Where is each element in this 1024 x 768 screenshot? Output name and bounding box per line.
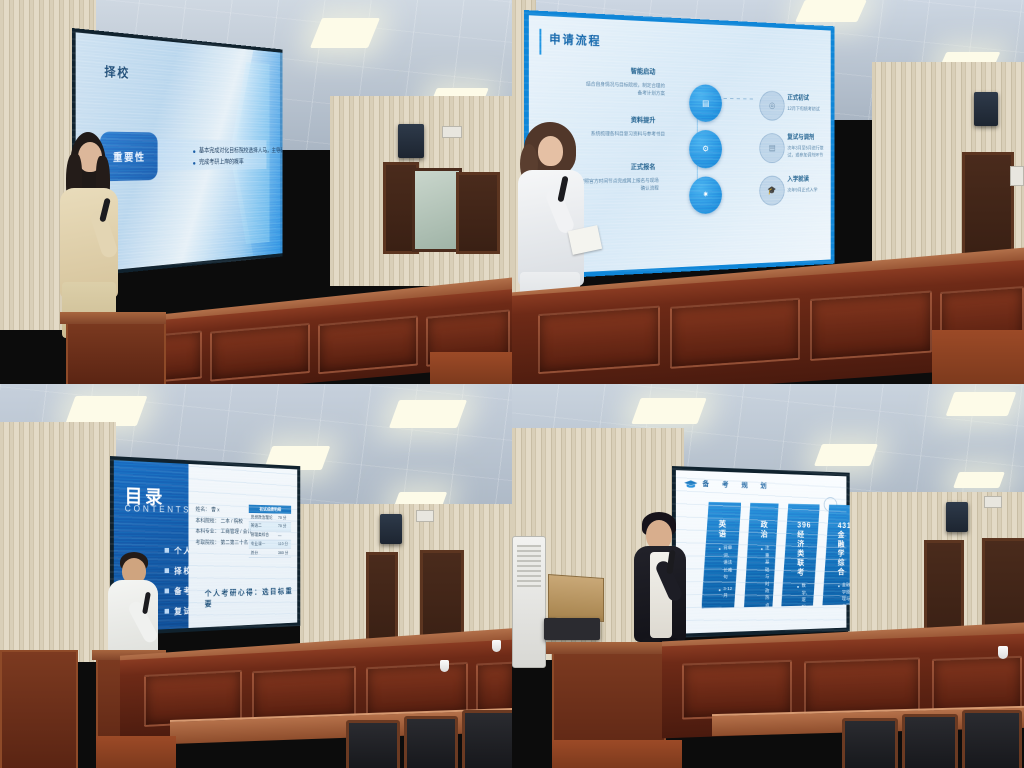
- chevron-point: 3-12月: [719, 586, 733, 601]
- slide-header: 备 考 规 划: [683, 479, 772, 491]
- photo-bottom-left: 目录 CONTENTS 个人介绍 择校择专业 备考规划 复试经验 姓名： 曹 x…: [0, 384, 512, 768]
- table-row: 管理类综合—: [249, 531, 291, 540]
- step-desc: 次年9月正式入学: [787, 187, 830, 195]
- ceiling-light: [814, 444, 878, 466]
- chair: [962, 710, 1022, 768]
- door: [366, 552, 398, 644]
- chair: [842, 718, 898, 768]
- bullet: 完成考研上岸的概率: [193, 157, 282, 168]
- chair: [902, 714, 958, 768]
- step-node-6: 🎓: [759, 175, 784, 205]
- wall-speaker: [398, 124, 424, 158]
- equipment-case: [548, 574, 604, 622]
- slide-footer: 个人考研心得：选目标重要: [205, 586, 298, 609]
- floor: [430, 352, 512, 384]
- photo-collage: 择校 重要性 基本完成对化目标院校选择人马，主导研究 完成考研上岸的概率: [0, 0, 1024, 768]
- air-conditioner: [512, 536, 546, 668]
- step-desc: 次年3月至5月进行复试，或参加调剂环节: [787, 146, 830, 160]
- step-label: 入学就读: [787, 174, 809, 183]
- ceiling-light: [946, 392, 1017, 416]
- score-table: 初试成绩明细 思想政治理论70 分 英语二70 分 管理类综合— 专业课一110…: [249, 505, 291, 558]
- step-label: 智能启动: [631, 66, 656, 76]
- step-desc: 12月下旬统考初试: [787, 106, 830, 114]
- chevron-point: 注重基础与时政热点: [761, 546, 770, 610]
- podium-top: [546, 642, 670, 654]
- chevron-title: 政治: [761, 521, 770, 540]
- podium-top: [60, 312, 166, 324]
- info-line: 姓名： 曹 x: [195, 505, 251, 517]
- chevron-2: 政治 注重基础与时政热点 8-12月: [744, 503, 779, 608]
- graduation-cap-icon: [683, 479, 697, 488]
- ceiling-light: [310, 18, 380, 48]
- paper-cup: [492, 640, 501, 652]
- chevron-point: 数学、逻辑、写作: [797, 583, 811, 618]
- paper-cup: [440, 660, 449, 672]
- floor: [96, 736, 176, 768]
- step-desc: 结合自身情况与目标院校，制定合理的备考计划方案: [582, 81, 664, 98]
- chair: [346, 720, 400, 768]
- chevron-4: 431金融学综合 金融学原理与公司财务 6-12月: [822, 505, 849, 606]
- door-glass: [412, 168, 462, 252]
- presenter-1: [46, 132, 136, 332]
- photo-top-right: 申请流程 ▤ 智能启动 结合自身情况与目标院校，制定合理的备考计划方案 ⚙ 资料…: [512, 0, 1024, 384]
- photo-bottom-right: 备 考 规 划 英语 背单词、语法长难句 3-12月 政治 注重基础与: [512, 384, 1024, 768]
- wall-speaker: [380, 514, 402, 544]
- wall-left: [0, 422, 116, 662]
- door: [962, 152, 1014, 256]
- step-label: 正式报名: [631, 162, 656, 172]
- chevron-1: 英语 背单词、语法长难句 3-12月: [701, 502, 741, 609]
- door-2: [456, 172, 500, 254]
- chevron-title: 英语: [719, 520, 733, 540]
- step-node-2: ⚙: [689, 130, 722, 168]
- slide-right-panel: 姓名： 曹 x 本科院校： 二本 / 院校 本科专业： 工商管理 / 会计 考取…: [189, 464, 298, 628]
- podium-2: [0, 650, 78, 768]
- wall-speaker: [946, 502, 968, 532]
- wall-speaker: [974, 92, 998, 126]
- header-label: 备 考 规 划: [702, 479, 772, 491]
- slide-bullets: 基本完成对化目标院校选择人马，主导研究 完成考研上岸的概率: [162, 146, 282, 169]
- equipment-box: [544, 618, 600, 640]
- chevron-3: 396经济类联考 数学、逻辑、写作 3-12月: [781, 504, 820, 607]
- step-label: 正式初试: [787, 93, 809, 102]
- wall-plate: [984, 496, 1002, 508]
- step-node-5: ▤: [759, 133, 784, 163]
- photo-top-left: 择校 重要性 基本完成对化目标院校选择人马，主导研究 完成考研上岸的概率: [0, 0, 512, 384]
- wall-plate: [1010, 166, 1024, 186]
- step-label: 资料提升: [631, 115, 656, 125]
- podium: [66, 318, 166, 384]
- chevron-title: 396经济类联考: [797, 521, 811, 578]
- step-node-3: ✷: [689, 176, 722, 214]
- floor: [552, 740, 682, 768]
- ceiling-light: [795, 0, 867, 22]
- step-label: 复试与调剂: [787, 132, 814, 141]
- slide-title: 择校: [104, 61, 130, 81]
- chevron-title: 431金融学综合: [838, 522, 850, 578]
- table-row: 专业课一110 分: [249, 540, 291, 549]
- ceiling-light: [953, 472, 1005, 488]
- info-line: 考取院校： 第二第三十名: [195, 539, 251, 550]
- chair: [404, 716, 458, 768]
- info-line: 本科院校： 二本 / 院校: [195, 516, 251, 528]
- slide-title: 申请流程: [549, 30, 601, 49]
- personal-info: 姓名： 曹 x 本科院校： 二本 / 院校 本科专业： 工商管理 / 会计 考取…: [195, 505, 251, 550]
- wall-plate: [416, 510, 434, 522]
- bullet: 基本完成对化目标院校选择人马，主导研究: [193, 146, 282, 157]
- chevron-group: 英语 背单词、语法长难句 3-12月 政治 注重基础与时政热点 8-12月: [701, 502, 827, 609]
- ceiling-light: [389, 400, 467, 428]
- table-row: 英语二70 分: [249, 522, 291, 531]
- step-node-1: ▤: [689, 84, 722, 122]
- table-row: 总分380 分: [249, 549, 291, 558]
- chair: [462, 710, 512, 768]
- floor: [932, 330, 1024, 384]
- info-line: 本科专业： 工商管理 / 会计: [195, 527, 251, 538]
- chevron-point: 背单词、语法长难句: [719, 546, 733, 582]
- wall-plate: [442, 126, 462, 138]
- step-node-4: ◎: [759, 91, 784, 121]
- paper-cup: [998, 646, 1008, 659]
- ceiling-light: [631, 398, 706, 424]
- slide-title-en: CONTENTS: [125, 503, 191, 514]
